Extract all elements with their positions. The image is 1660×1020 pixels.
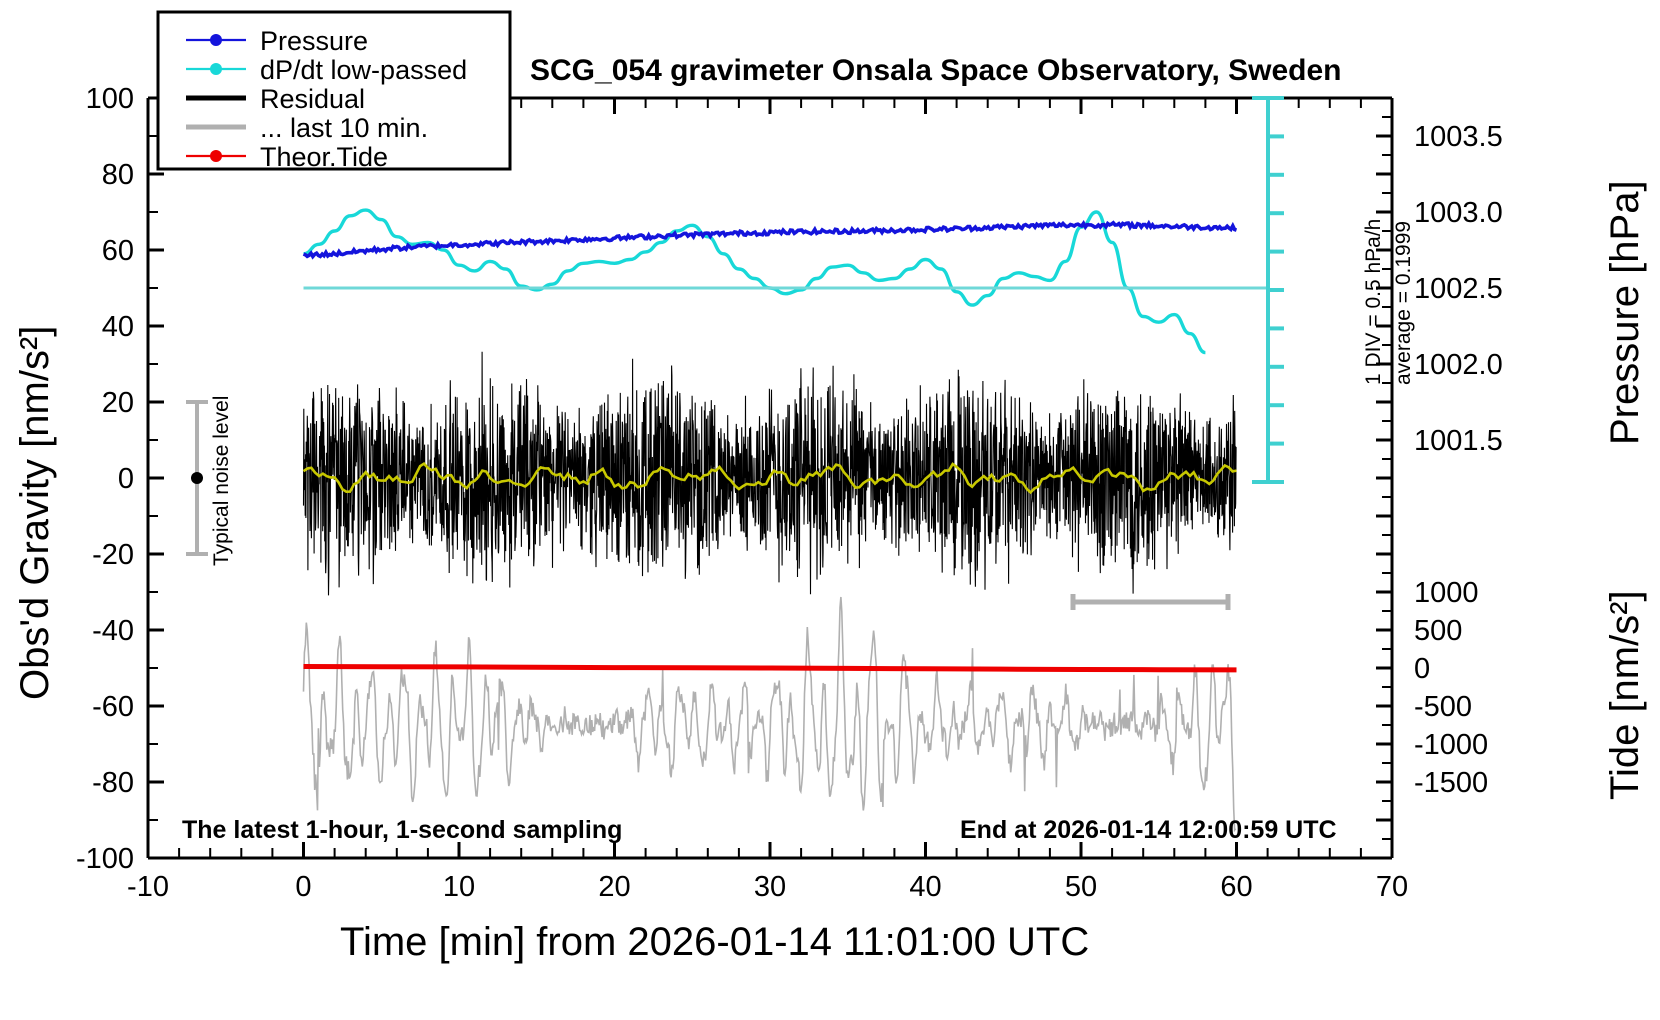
legend-label: ... last 10 min. [260, 113, 428, 143]
left-tick-label: -80 [92, 767, 134, 799]
left-tick-label: 0 [118, 463, 134, 495]
right-tide-tick-label: -1000 [1414, 729, 1488, 761]
right-pressure-tick-label: 1003.0 [1414, 197, 1503, 229]
left-tick-label: -60 [92, 691, 134, 723]
footer-right-note: End at 2026-01-14 12:00:59 UTC [960, 816, 1337, 844]
div-scale-label: 1 DIV = 0.5 hPa/h [1362, 219, 1385, 385]
bottom-tick-label: 10 [443, 871, 475, 903]
bottom-tick-label: 50 [1065, 871, 1097, 903]
left-tick-label: 100 [86, 83, 134, 115]
left-tick-label: -40 [92, 615, 134, 647]
y-axis-title: Obs'd Gravity [nm/s²] [13, 326, 57, 700]
bottom-tick-label: 0 [295, 871, 311, 903]
x-axis-title: Time [min] from 2026-01-14 11:01:00 UTC [340, 920, 1089, 964]
legend: PressuredP/dt low-passedResidual... last… [158, 12, 510, 172]
right-pressure-tick-label: 1002.5 [1414, 273, 1503, 305]
right-tide-tick-label: 500 [1414, 615, 1462, 647]
right-tide-title: Tide [nm/s²] [1603, 590, 1647, 800]
left-tick-label: -100 [76, 843, 134, 875]
legend-label: Residual [260, 84, 365, 114]
bottom-tick-label: 70 [1376, 871, 1408, 903]
legend-label: Pressure [260, 26, 368, 56]
legend-marker [210, 34, 222, 46]
right-tide-tick-label: 0 [1414, 653, 1430, 685]
left-tick-label: 20 [102, 387, 134, 419]
bottom-tick-label: 30 [754, 871, 786, 903]
left-tick-label: 40 [102, 311, 134, 343]
legend-label: dP/dt low-passed [260, 55, 467, 85]
bottom-tick-label: -10 [127, 871, 169, 903]
bottom-tick-label: 40 [909, 871, 941, 903]
left-tick-label: 60 [102, 235, 134, 267]
right-pressure-tick-label: 1003.5 [1414, 121, 1503, 153]
gravimeter-plot: 100806040200-20-40-60-80-100 -1001020304… [0, 0, 1660, 1020]
bottom-tick-label: 20 [598, 871, 630, 903]
right-pressure-tick-label: 1002.0 [1414, 349, 1503, 381]
legend-label: Theor.Tide [260, 142, 388, 172]
bottom-tick-label: 60 [1220, 871, 1252, 903]
right-pressure-tick-label: 1001.5 [1414, 425, 1503, 457]
noise-level-label: Typical noise level [210, 396, 233, 566]
footer-left-note: The latest 1-hour, 1-second sampling [182, 816, 622, 844]
legend-marker [210, 63, 222, 75]
right-tide-tick-label: -500 [1414, 691, 1472, 723]
legend-marker [210, 150, 222, 162]
right-axis-ticks [1376, 98, 1392, 858]
right-tide-tick-label: 1000 [1414, 577, 1479, 609]
average-label: average = 0.1999 [1392, 221, 1415, 385]
left-tick-label: -20 [92, 539, 134, 571]
left-tick-label: 80 [102, 159, 134, 191]
right-pressure-title: Pressure [hPa] [1603, 180, 1647, 445]
right-tide-tick-label: -1500 [1414, 767, 1488, 799]
page-title: SCG_054 gravimeter Onsala Space Observat… [530, 54, 1342, 87]
chart-root: 100806040200-20-40-60-80-100 -1001020304… [0, 0, 1660, 1020]
